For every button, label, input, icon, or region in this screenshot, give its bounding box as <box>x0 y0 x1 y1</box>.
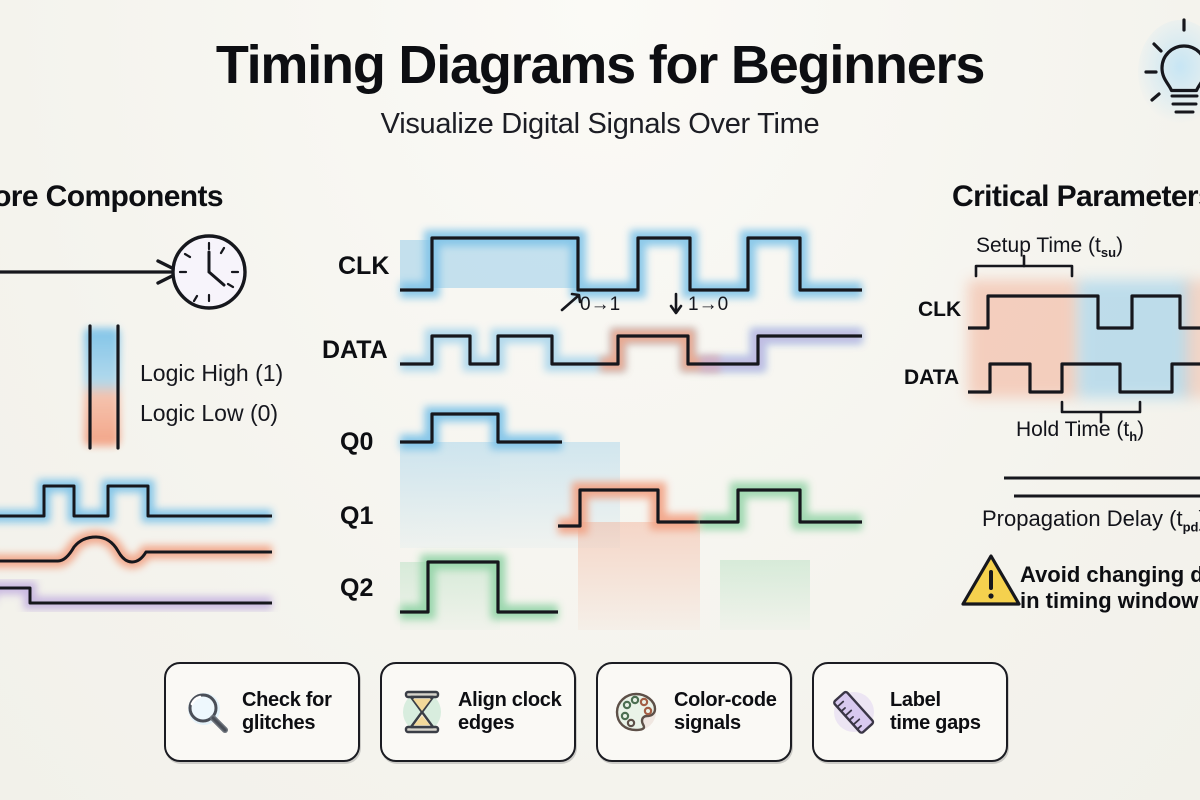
right-signal-label-clk: CLK <box>918 298 961 322</box>
q1-waveform <box>558 490 862 630</box>
page-title: Timing Diagrams for Beginners <box>0 34 1200 96</box>
warning-line-1: Avoid changing data <box>1020 562 1200 588</box>
rising-edge-annotation-label: 0→1 <box>580 294 620 316</box>
propagation-delay-lines <box>962 478 1200 496</box>
tip-line-1: Align clock <box>458 689 561 712</box>
signal-label-data: DATA <box>322 336 388 365</box>
lightbulb-icon <box>1136 14 1200 134</box>
tip-label-check-for-glitches: Check for glitches <box>242 689 332 735</box>
time-arrow-icon <box>0 261 180 283</box>
propagation-delay-subscript: pd <box>1183 519 1199 534</box>
tips-row: Check for glitches Align clock edges <box>164 662 1008 762</box>
propagation-delay-text: Propagation Delay (t <box>982 506 1183 531</box>
hold-time-text: Hold Time (t <box>1016 418 1129 441</box>
setup-time-text: Setup Time (t <box>976 234 1101 257</box>
setup-time-subscript: su <box>1101 245 1116 260</box>
hold-time-label: Hold Time (th) <box>1016 418 1144 444</box>
tip-label-align-clock-edges: Align clock edges <box>458 689 561 735</box>
tip-line-1: Check for <box>242 689 332 712</box>
orange-glitch-wave <box>0 537 272 562</box>
warning-message: Avoid changing data in timing window! <box>1020 562 1200 614</box>
q2-waveform <box>400 560 810 630</box>
ruler-icon <box>828 686 880 738</box>
tip-label-color-code-signals: Color-code signals <box>674 689 777 735</box>
blue-pulse-wave <box>0 486 272 516</box>
tip-line-2: edges <box>458 712 561 735</box>
falling-edge-arrow-glyph <box>671 294 681 313</box>
signal-label-clk: CLK <box>338 252 389 281</box>
q0-waveform <box>400 414 620 548</box>
warning-line-2: in timing window! <box>1020 588 1200 614</box>
signal-label-q2: Q2 <box>340 574 373 603</box>
hourglass-icon <box>396 686 448 738</box>
hold-time-tail: ) <box>1137 418 1144 441</box>
falling-edge-annotation-label: 1→0 <box>688 294 728 316</box>
tip-line-2: glitches <box>242 712 332 735</box>
legend-logic-low: Logic Low (0) <box>140 400 278 427</box>
purple-spike-wave <box>0 588 272 603</box>
signal-label-q1: Q1 <box>340 502 373 531</box>
data-waveform <box>400 336 862 364</box>
tip-card-label-time-gaps[interactable]: Label time gaps <box>812 662 1008 762</box>
legend-logic-high: Logic High (1) <box>140 360 283 387</box>
tip-card-color-code-signals[interactable]: Color-code signals <box>596 662 792 762</box>
palette-icon <box>612 686 664 738</box>
tip-label-label-time-gaps: Label time gaps <box>890 689 981 735</box>
logic-level-gradient-bar <box>84 326 120 448</box>
clk-waveform <box>400 238 862 290</box>
tip-line-2: time gaps <box>890 712 981 735</box>
tip-card-align-clock-edges[interactable]: Align clock edges <box>380 662 576 762</box>
hold-time-subscript: h <box>1129 429 1137 444</box>
infographic-poster: Timing Diagrams for Beginners Visualize … <box>0 0 1200 800</box>
setup-time-tail: ) <box>1116 234 1123 257</box>
tip-line-1: Color-code <box>674 689 777 712</box>
core-components-heading: Core Components <box>0 180 223 214</box>
magnifier-icon <box>180 686 232 738</box>
warning-triangle-icon <box>963 556 1019 604</box>
tip-line-1: Label <box>890 689 981 712</box>
critical-parameters-heading: Critical Parameters <box>952 180 1200 214</box>
tip-card-check-for-glitches[interactable]: Check for glitches <box>164 662 360 762</box>
right-signal-label-data: DATA <box>904 366 959 390</box>
clock-icon <box>173 236 245 308</box>
page-subtitle: Visualize Digital Signals Over Time <box>0 108 1200 141</box>
setup-time-label: Setup Time (tsu) <box>976 234 1123 260</box>
propagation-delay-label: Propagation Delay (tpd) <box>982 506 1200 534</box>
signal-label-q0: Q0 <box>340 428 373 457</box>
rising-edge-arrow-glyph <box>562 294 580 310</box>
tip-line-2: signals <box>674 712 777 735</box>
timing-window-diagram <box>968 256 1200 422</box>
